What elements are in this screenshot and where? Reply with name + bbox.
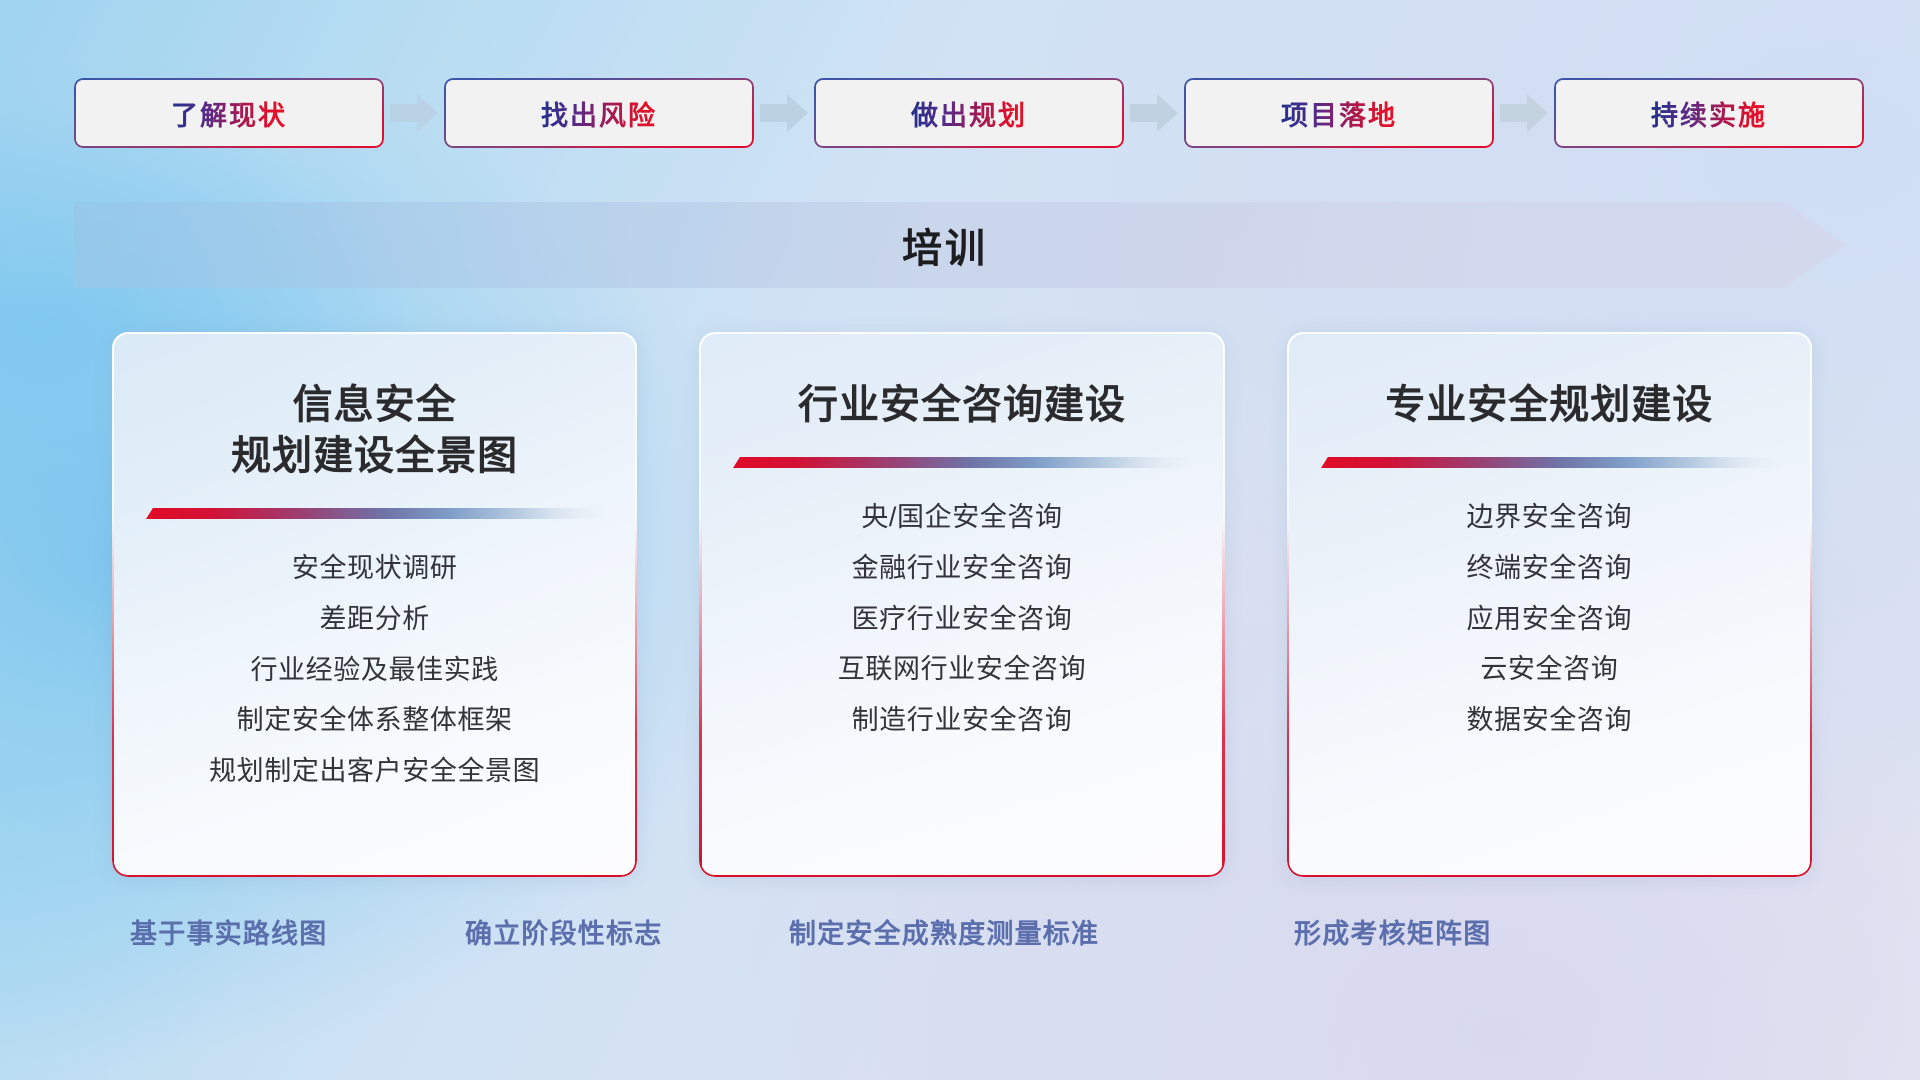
list-item: 应用安全咨询 (1467, 598, 1633, 641)
footnote-2: 制定安全成熟度测量标准 (789, 912, 1099, 951)
list-item: 云安全咨询 (1480, 648, 1618, 691)
process-step-label: 做出规划 (911, 94, 1027, 133)
card-divider-icon (146, 508, 603, 519)
list-item: 制定安全体系整体框架 (237, 699, 513, 742)
card-title: 专业安全规划建设 (1385, 380, 1713, 431)
list-item: 差距分析 (319, 598, 429, 641)
card-1[interactable]: 行业安全咨询建设 央/国企安全咨询 金融行业安全咨询 (699, 332, 1224, 877)
card-title: 信息安全 规划建设全景图 (231, 380, 518, 482)
list-item: 安全现状调研 (292, 547, 458, 590)
list-item: 规划制定出客户安全全景图 (209, 750, 540, 793)
process-step-label: 项目落地 (1281, 94, 1397, 133)
footnote-0: 基于事实路线图 (130, 912, 327, 951)
process-step-0[interactable]: 了解现状 (74, 78, 384, 148)
list-item: 终端安全咨询 (1467, 547, 1633, 590)
footnote-row: 基于事实路线图 确立阶段性标志 制定安全成熟度测量标准 形成考核矩阵图 (0, 912, 1920, 962)
process-step-3[interactable]: 项目落地 (1184, 78, 1494, 148)
process-step-label: 找出风险 (541, 94, 657, 133)
list-item: 数据安全咨询 (1467, 699, 1633, 742)
process-step-4[interactable]: 持续实施 (1554, 78, 1864, 148)
list-item: 边界安全咨询 (1467, 496, 1633, 539)
card-divider-icon (1321, 457, 1778, 468)
list-item: 医疗行业安全咨询 (852, 598, 1073, 641)
card-0[interactable]: 信息安全 规划建设全景图 安全现状调研 差距分析 (112, 332, 637, 877)
card-divider-icon (733, 457, 1190, 468)
card-2[interactable]: 专业安全规划建设 边界安全咨询 终端安全咨询 (1287, 332, 1812, 877)
card-item-list: 边界安全咨询 终端安全咨询 应用安全咨询 云安全咨询 数据安全咨询 (1467, 496, 1633, 741)
card-row: 信息安全 规划建设全景图 安全现状调研 差距分析 (112, 332, 1812, 877)
list-item: 互联网行业安全咨询 (838, 648, 1086, 691)
card-title: 行业安全咨询建设 (798, 380, 1126, 431)
arrow-right-icon (1494, 78, 1554, 148)
list-item: 央/国企安全咨询 (861, 496, 1062, 539)
footnote-3: 形成考核矩阵图 (1294, 912, 1491, 951)
banner-title: 培训 (74, 202, 1846, 288)
process-step-row: 了解现状 找出风险 做出规划 项目落地 持续实施 (74, 78, 1846, 148)
card-item-list: 安全现状调研 差距分析 行业经验及最佳实践 制定安全体系整体框架 规划制定出客户… (209, 547, 540, 792)
list-item: 行业经验及最佳实践 (250, 649, 498, 692)
list-item: 制造行业安全咨询 (852, 699, 1073, 742)
process-step-label: 持续实施 (1651, 94, 1767, 133)
training-banner: 培训 (74, 202, 1846, 288)
process-step-2[interactable]: 做出规划 (814, 78, 1124, 148)
process-step-1[interactable]: 找出风险 (444, 78, 754, 148)
arrow-right-icon (1124, 78, 1184, 148)
list-item: 金融行业安全咨询 (852, 547, 1073, 590)
footnote-1: 确立阶段性标志 (465, 912, 662, 951)
slide-canvas: 了解现状 找出风险 做出规划 项目落地 持续实施 培训 (0, 0, 1920, 1080)
arrow-right-icon (384, 78, 444, 148)
process-step-label: 了解现状 (171, 94, 287, 133)
card-item-list: 央/国企安全咨询 金融行业安全咨询 医疗行业安全咨询 互联网行业安全咨询 制造行… (838, 496, 1086, 741)
arrow-right-icon (754, 78, 814, 148)
